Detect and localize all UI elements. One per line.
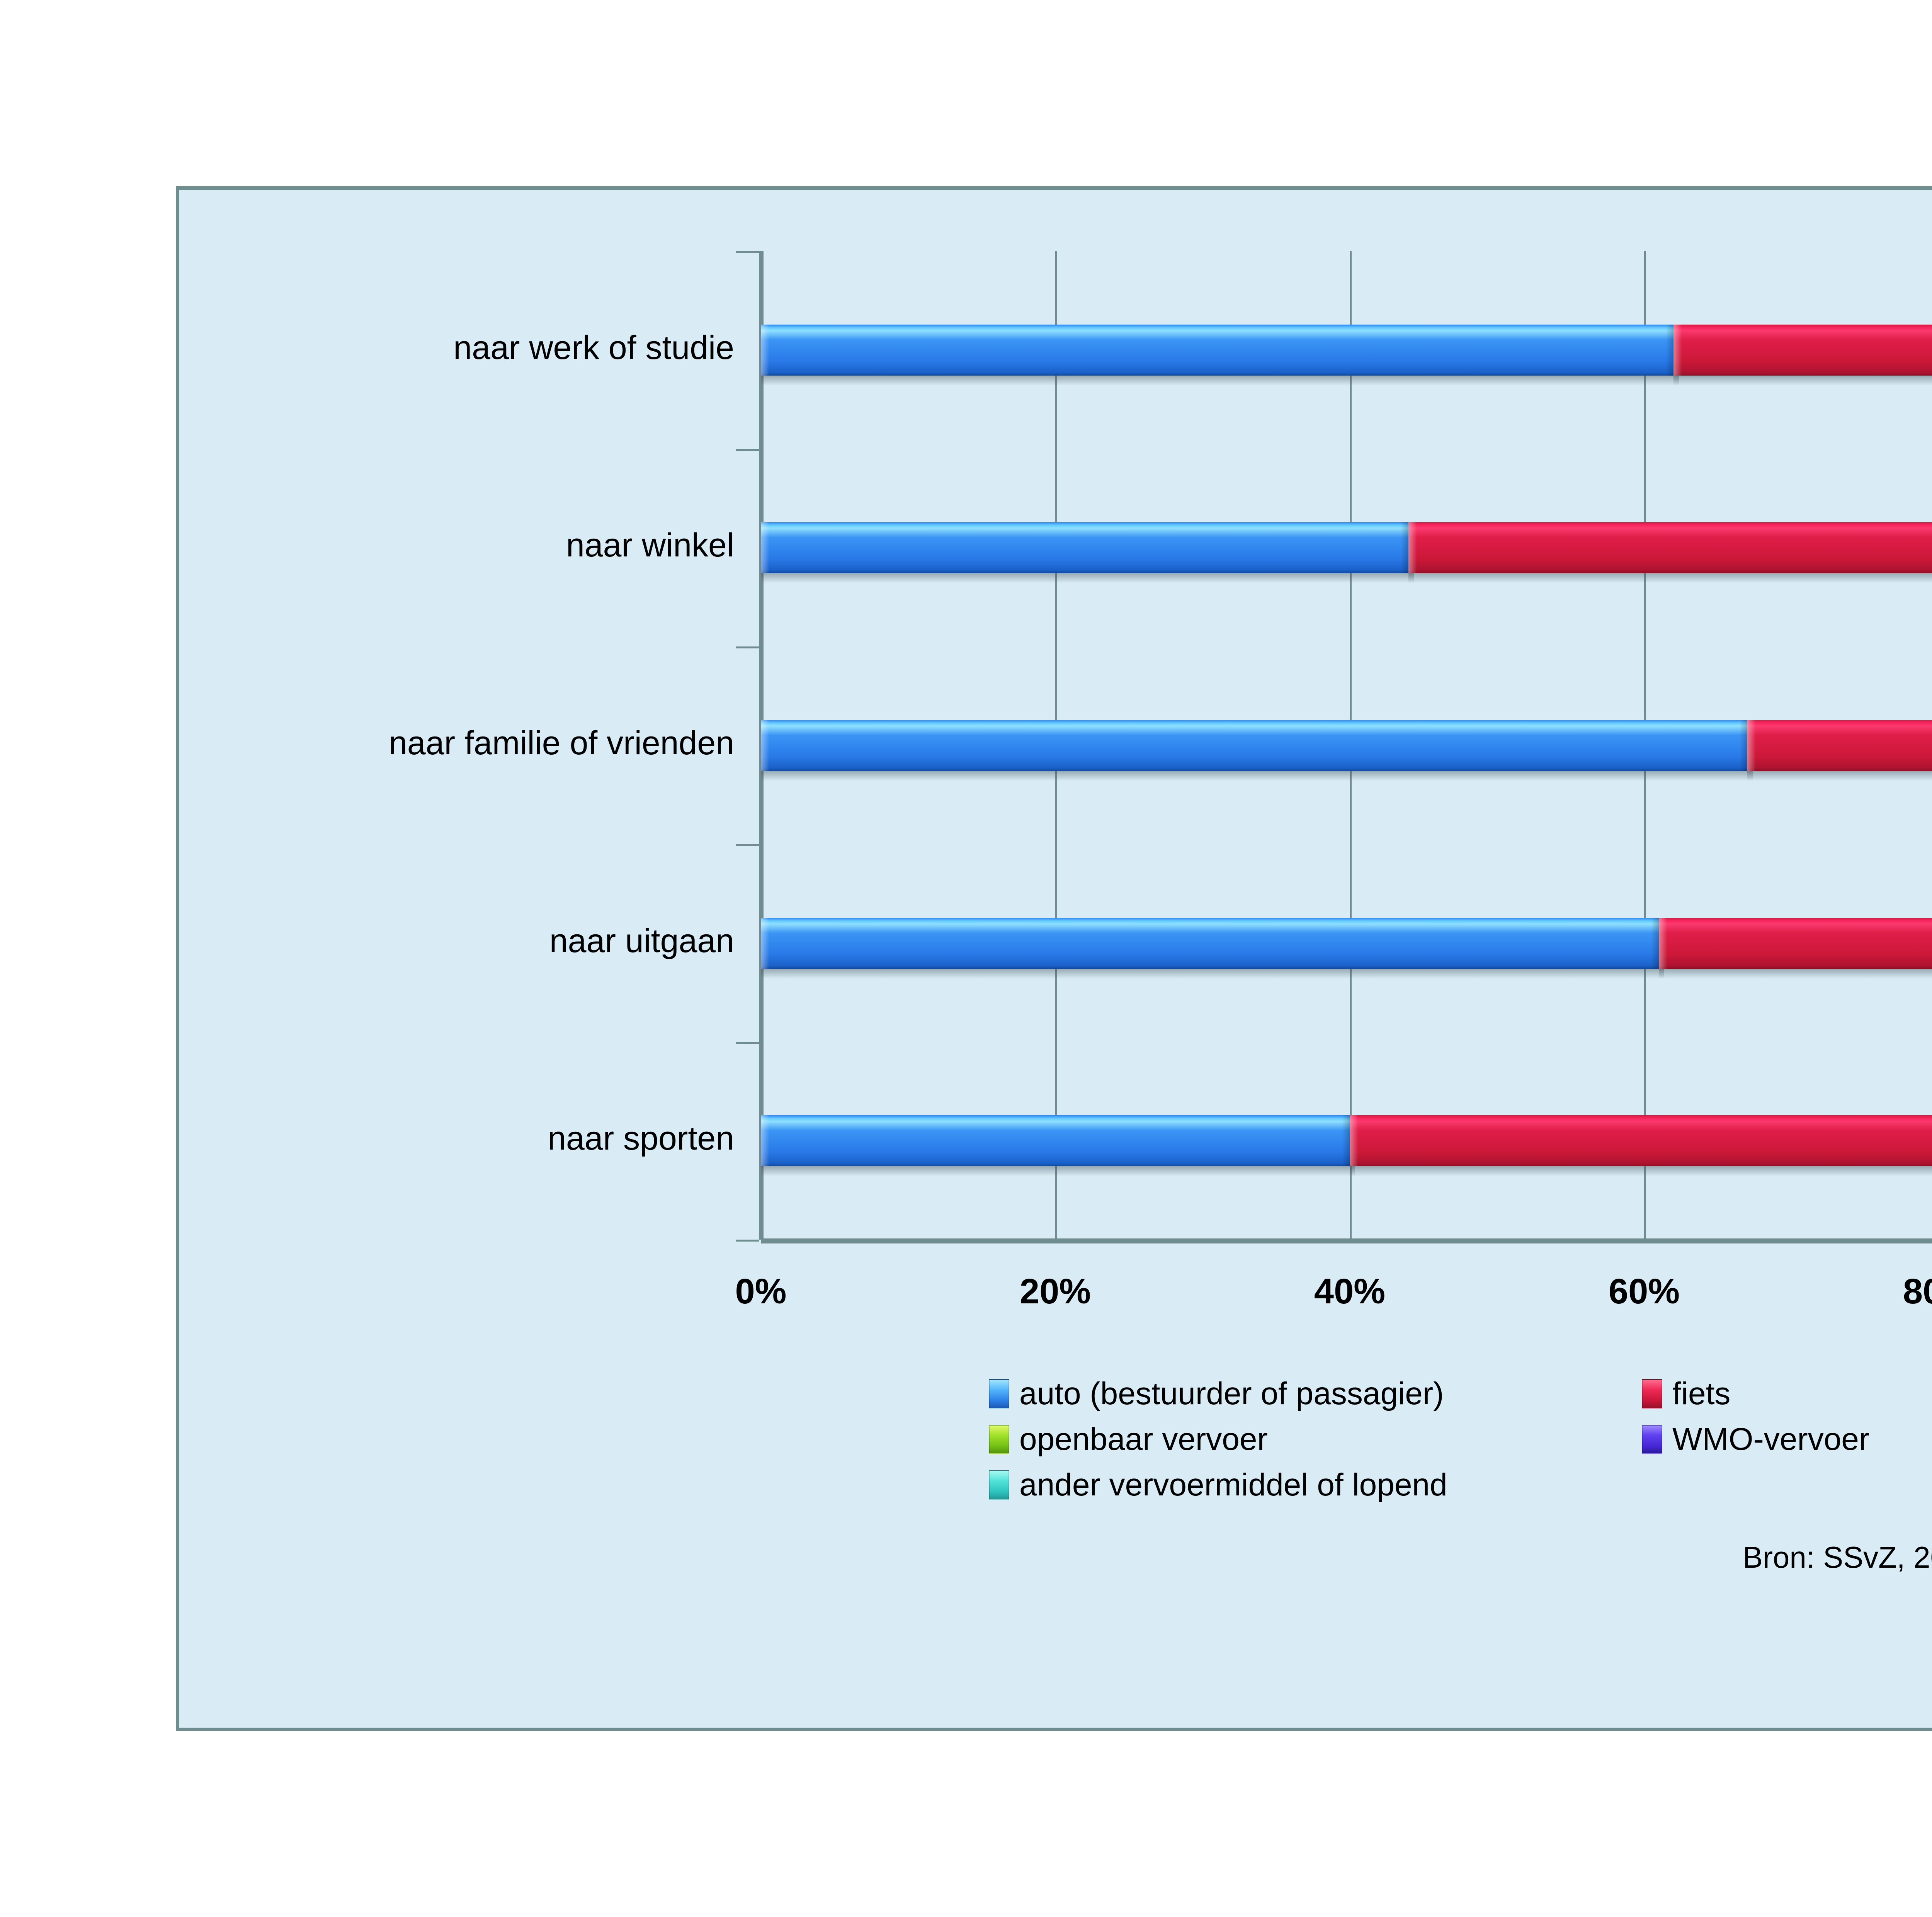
legend: auto (bestuurder of passagier)fietsopenb…: [989, 1376, 1932, 1512]
bar-segment-auto: [761, 325, 1673, 376]
x-tick-label-0pct: 0%: [680, 1271, 842, 1312]
legend-label: WMO-vervoer: [1672, 1421, 1869, 1458]
bar-segment-fiets: [1673, 325, 1932, 376]
legend-row: auto (bestuurder of passagier)fiets: [989, 1376, 1932, 1421]
source-note: Bron: SSvZ, 2009: [1743, 1540, 1932, 1575]
bar-bevel-left: [761, 720, 769, 771]
fiets-swatch: [1642, 1379, 1662, 1408]
legend-label: fiets: [1672, 1376, 1730, 1412]
bar-bevel-right: [1740, 720, 1747, 771]
bar-bevel-left: [761, 522, 769, 573]
x-tick-label-60pct: 60%: [1563, 1271, 1725, 1312]
legend-label: auto (bestuurder of passagier): [1019, 1376, 1444, 1412]
x-tick-label-20pct: 20%: [974, 1271, 1136, 1312]
bar-segment-fiets: [1747, 720, 1932, 771]
bar-segment-fiets: [1350, 1115, 1932, 1166]
legend-item-wmo-vervoer[interactable]: WMO-vervoer: [1642, 1421, 1869, 1458]
bar-bevel-left: [761, 1115, 769, 1166]
legend-item-fiets[interactable]: fiets: [1642, 1376, 1730, 1412]
category-label-2: naar winkel: [116, 526, 734, 565]
bar-bevel-right: [1666, 325, 1673, 376]
legend-row: openbaar vervoerWMO-vervoer: [989, 1421, 1932, 1467]
y-axis-tick: [736, 1042, 759, 1044]
bar-bevel-right: [1651, 918, 1659, 969]
bar-segment-auto: [761, 918, 1659, 969]
y-axis-tick: [736, 1240, 759, 1242]
bar-segment-fiets: [1659, 918, 1932, 969]
bar-bevel-left: [761, 325, 769, 376]
x-tick-label-80pct: 80%: [1857, 1271, 1932, 1312]
bar-bevel-left: [1659, 918, 1667, 969]
ander-vervoermiddel-swatch: [989, 1470, 1009, 1500]
y-axis-tick: [736, 251, 759, 253]
legend-label: ander vervoermiddel of lopend: [1019, 1467, 1447, 1503]
bar-segment-auto: [761, 720, 1747, 771]
wmo-vervoer-swatch: [1642, 1425, 1662, 1454]
category-label-5: naar sporten: [116, 1119, 734, 1158]
bar-bevel-right: [1401, 522, 1408, 573]
bar-bevel-left: [1673, 325, 1682, 376]
bar-bevel-left: [1747, 720, 1756, 771]
bar-bevel-right: [1342, 1115, 1350, 1166]
y-axis-tick: [736, 646, 759, 648]
legend-item-auto[interactable]: auto (bestuurder of passagier): [989, 1376, 1444, 1412]
x-tick-label-40pct: 40%: [1269, 1271, 1431, 1312]
bar-bevel-left: [1350, 1115, 1358, 1166]
category-label-3: naar familie of vrienden: [116, 724, 734, 762]
bar-segment-fiets: [1408, 522, 1932, 573]
y-axis-tick: [736, 844, 759, 846]
bar-segment-auto: [761, 522, 1408, 573]
legend-item-openbaar-vervoer[interactable]: openbaar vervoer: [989, 1421, 1268, 1458]
category-label-1: naar werk of studie: [116, 329, 734, 367]
y-axis-tick: [736, 449, 759, 451]
category-label-4: naar uitgaan: [116, 922, 734, 960]
legend-row: ander vervoermiddel of lopend: [989, 1467, 1932, 1512]
bar-bevel-left: [1408, 522, 1417, 573]
openbaar-vervoer-swatch: [989, 1425, 1009, 1454]
bar-segment-auto: [761, 1115, 1350, 1166]
legend-item-ander-vervoermiddel[interactable]: ander vervoermiddel of lopend: [989, 1467, 1447, 1503]
bar-bevel-left: [761, 918, 769, 969]
legend-label: openbaar vervoer: [1019, 1421, 1268, 1458]
auto-swatch: [989, 1379, 1009, 1408]
x-axis-line: [761, 1238, 1932, 1243]
